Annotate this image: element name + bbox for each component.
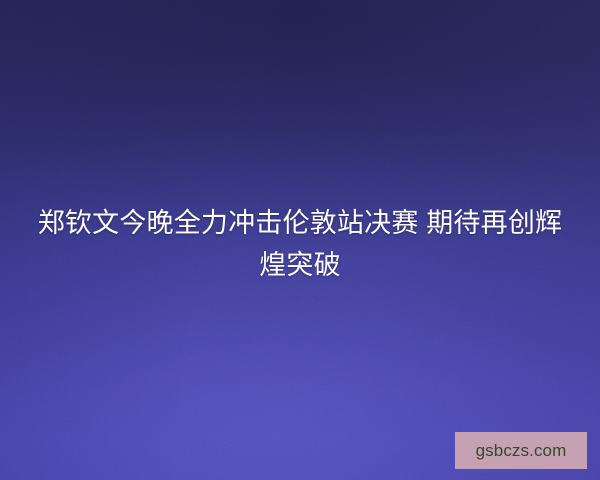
watermark-badge: gsbczs.com bbox=[455, 432, 587, 469]
article-cover-image: 郑钦文今晚全力冲击伦敦站决赛 期待再 创辉煌突破 gsbczs.com bbox=[0, 0, 600, 480]
headline-line-1: 郑钦文今晚全力冲击伦敦站决赛 期待再 bbox=[38, 208, 508, 238]
headline-title: 郑钦文今晚全力冲击伦敦站决赛 期待再 创辉煌突破 bbox=[0, 202, 600, 286]
watermark-label: gsbczs.com bbox=[476, 442, 567, 459]
